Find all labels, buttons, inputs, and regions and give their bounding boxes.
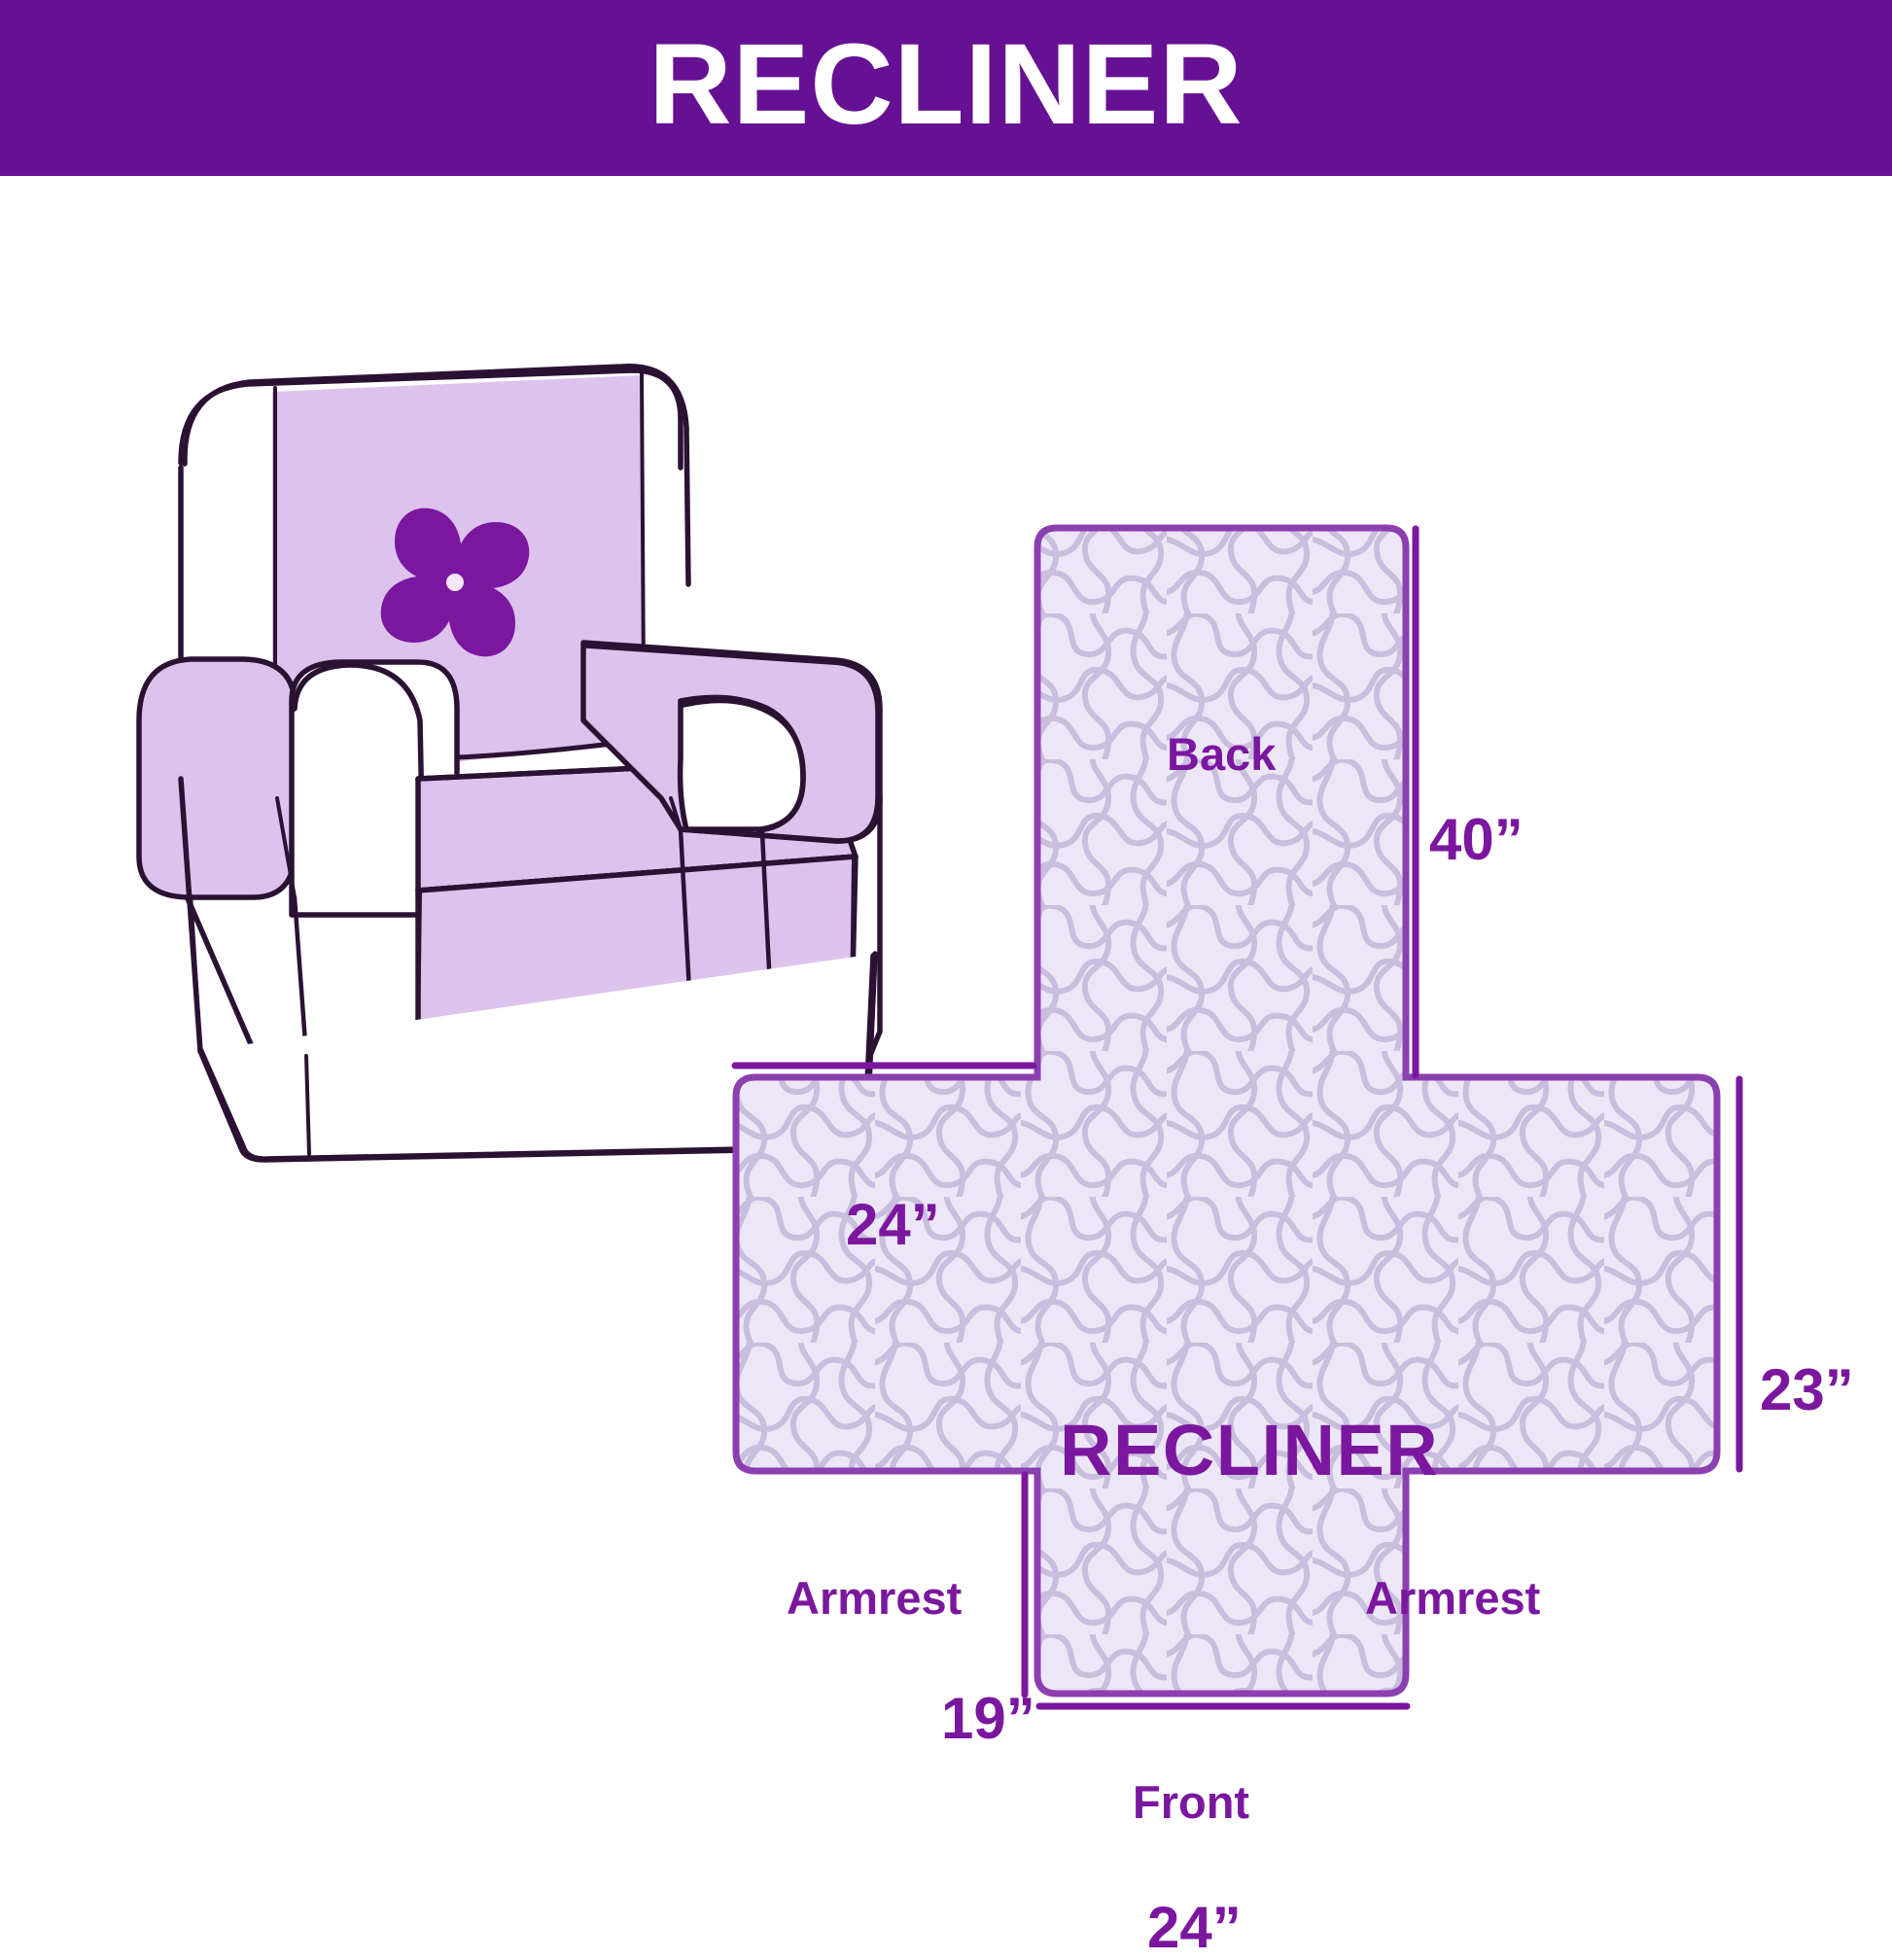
diagram-graphics xyxy=(0,176,1892,1892)
dimension-label-front-width: 24” xyxy=(1147,1899,1242,1957)
page-title: RECLINER xyxy=(648,27,1243,142)
diagram-label-back: Back xyxy=(1167,731,1276,777)
dimension-label-center-height: 23” xyxy=(1760,1361,1854,1419)
diagram-label-front: Front xyxy=(1133,1779,1249,1825)
diagram-label-armrest-left: Armrest xyxy=(787,1575,962,1621)
dimension-label-front-height: 19” xyxy=(941,1690,1035,1748)
diagram-label-recliner: RECLINER xyxy=(1060,1415,1439,1487)
recliner-armchair-illustration xyxy=(139,367,880,1160)
dimension-label-back-height: 40” xyxy=(1429,811,1524,869)
recliner-cover-diagram xyxy=(736,528,1718,1695)
content-stage: Back RECLINER Armrest Armrest Front 40” … xyxy=(0,176,1892,1892)
header-banner: RECLINER xyxy=(0,0,1892,176)
pinwheel-fan-icon xyxy=(381,508,530,657)
dimension-label-armrest-width: 24” xyxy=(846,1196,940,1254)
diagram-label-armrest-right: Armrest xyxy=(1365,1575,1540,1621)
